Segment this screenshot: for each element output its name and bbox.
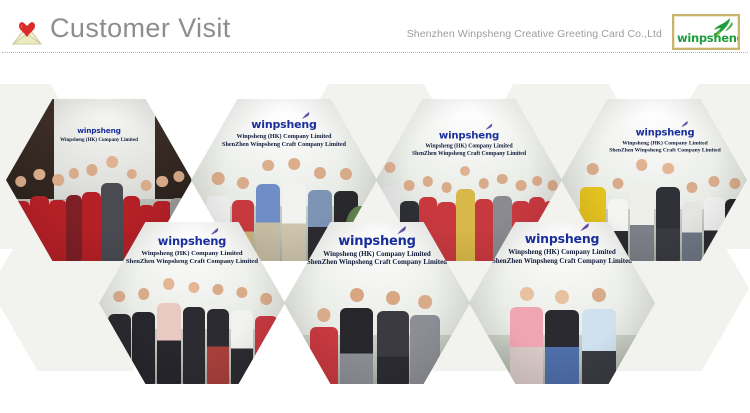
- company-name-line: Shenzhen Winpsheng Creative Greeting Car…: [407, 28, 662, 40]
- page-title: Customer Visit: [50, 9, 231, 47]
- envelope-heart-icon: [10, 17, 44, 47]
- brand-logo: winpsheng: [672, 14, 740, 50]
- page-header: Customer Visit Shenzhen Winpsheng Creati…: [0, 0, 750, 54]
- photo-gallery: winpsheng Winpsheng (HK) Company Limited: [0, 54, 750, 413]
- header-divider: [2, 52, 748, 53]
- brand-wordmark: winpsheng: [677, 31, 740, 45]
